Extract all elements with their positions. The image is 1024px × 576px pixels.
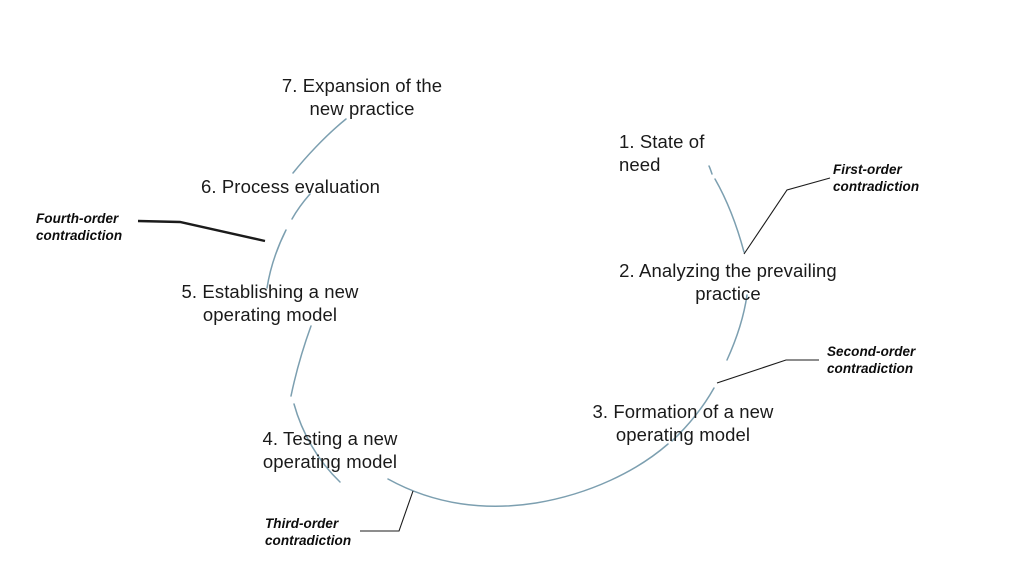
fourth-order-leader-line [138, 221, 265, 241]
arc-right-upper [715, 179, 744, 252]
stage-label-3: 3. Formation of a new operating model [583, 400, 783, 446]
stage-label-2: 2. Analyzing the prevailing practice [608, 259, 848, 305]
stage-label-7: 7. Expansion of the new practice [272, 74, 452, 120]
diagram-canvas: 1. State of need2. Analyzing the prevail… [0, 0, 1024, 576]
arc-tail-top-left [293, 119, 346, 173]
contradiction-label-second-order: Second-order contradiction [827, 343, 947, 377]
first-order-leader-line [744, 178, 830, 254]
contradiction-leader-group [138, 178, 830, 531]
contradiction-label-third-order: Third-order contradiction [265, 515, 375, 549]
cycle-diagram-svg [0, 0, 1024, 576]
stage-label-6: 6. Process evaluation [201, 175, 391, 198]
stage-label-5: 5. Establishing a new operating model [173, 280, 367, 326]
arc-left-mid [291, 326, 311, 396]
stage-label-1: 1. State of need [619, 130, 739, 176]
stage-label-4: 4. Testing a new operating model [250, 427, 410, 473]
second-order-leader-line [717, 360, 819, 383]
contradiction-label-fourth-order: Fourth-order contradiction [36, 210, 146, 244]
arc-bottom [388, 444, 668, 506]
contradiction-label-first-order: First-order contradiction [833, 161, 943, 195]
